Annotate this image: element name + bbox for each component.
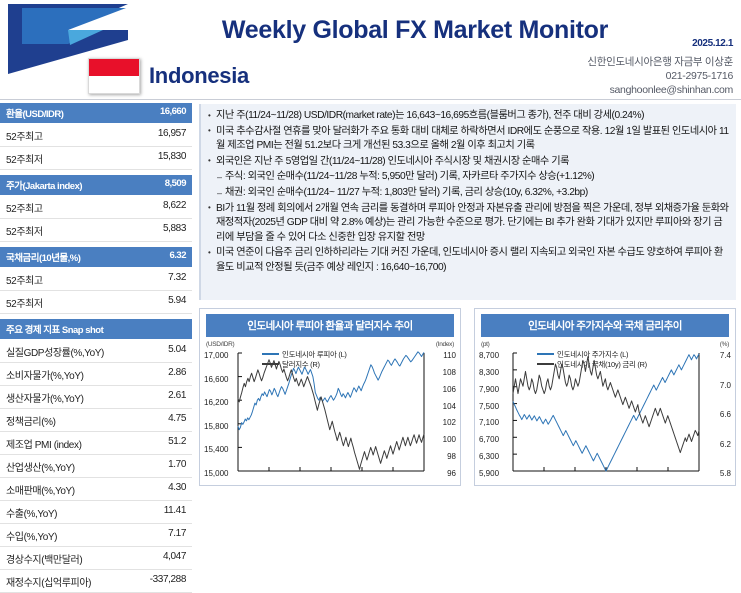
chart-fx-dollar-index: 인도네시아 루피아 환율과 달러지수 추이(USD/IDR)(Index)17,… [199, 308, 461, 486]
table-group-header: 국채금리(10년물,%)6.32 [0, 247, 192, 267]
chart-series-line [513, 354, 699, 471]
commentary-bullet: 외국인은 지난 주 5영업일 간(11/24~11/28) 인도네시아 주식시장… [207, 155, 730, 170]
table-row-label: 제조업 PMI (index) [6, 436, 82, 451]
table-row: 제조업 PMI (index)51.2 [0, 432, 192, 455]
table-row-value: 16,957 [158, 128, 186, 143]
table-row: 정책금리(%)4.75 [0, 409, 192, 432]
table-row-value: 5,883 [163, 223, 186, 238]
table-group-label: 주요 경제 지표 Snap shot [6, 322, 103, 336]
table-row-label: 산업생산(%,YoY) [6, 459, 75, 474]
table-row-value: 4,047 [163, 551, 186, 566]
table-row-value: 7.17 [168, 528, 186, 543]
table-row: 52주최저5.94 [0, 291, 192, 314]
market-indicator-table: 환율(USD/IDR)16,66052주최고16,95752주최저15,830주… [0, 103, 192, 593]
table-group-value: 16,660 [160, 106, 186, 120]
table-row-value: 7.32 [168, 272, 186, 287]
table-row: 소매판매(%,YoY)4.30 [0, 478, 192, 501]
indonesia-flag-icon [88, 58, 140, 94]
table-row: 수입(%,YoY)7.17 [0, 524, 192, 547]
table-row: 52주최저15,830 [0, 147, 192, 170]
table-row-label: 52주최저 [6, 295, 43, 310]
table-group-header: 환율(USD/IDR)16,660 [0, 103, 192, 123]
table-row: 재정수지(십억루피아)-337,288 [0, 570, 192, 593]
chart-plot-area: (USD/IDR)(Index)17,00016,60016,20015,800… [204, 341, 456, 481]
commentary-sub-bullet: 주식: 외국인 순매수(11/24~11/28 누적: 5,950만 달러) 기… [207, 170, 730, 185]
commentary-sub-bullet: 채권: 외국인 순매수(11/24~ 11/27 누적: 1,803만 달러) … [207, 186, 730, 201]
table-row-label: 소비자물가(%,YoY) [6, 367, 84, 382]
commentary-bullet: 지난 주(11/24~11/28) USD/IDR(market rate)는 … [207, 109, 730, 124]
table-row-label: 정책금리(%) [6, 413, 56, 428]
table-row-value: 5.04 [168, 344, 186, 359]
chart-series-line [238, 360, 424, 470]
author-name: 신한인도네시아은행 자금부 이상훈 [587, 55, 733, 69]
chart-svg [204, 341, 454, 481]
table-row-value: 51.2 [168, 436, 186, 451]
table-row-value: 8,622 [163, 200, 186, 215]
table-group-label: 환율(USD/IDR) [6, 106, 63, 120]
chart-equity-bond-yield: 인도네시아 주가지수와 국채 금리추이(pt)(%)8,7008,3007,90… [474, 308, 736, 486]
commentary-bullet: 미국 추수감사절 연휴를 맞아 달러화가 주요 통화 대비 대체로 하락하면서 … [207, 125, 730, 154]
country-label: Indonesia [149, 63, 249, 89]
chart-title: 인도네시아 주가지수와 국채 금리추이 [481, 314, 729, 337]
table-group-label: 국채금리(10년물,%) [6, 250, 80, 264]
author-contact: 신한인도네시아은행 자금부 이상훈 021-2975-1716 sanghoon… [587, 55, 733, 97]
table-row-label: 경상수지(백만달러) [6, 551, 82, 566]
table-row-label: 52주최고 [6, 272, 43, 287]
table-row-value: 4.75 [168, 413, 186, 428]
table-row-value: 1.70 [168, 459, 186, 474]
commentary-bullet: BI가 11월 정례 회의에서 2개월 연속 금리를 동결하며 루피아 안정과 … [207, 202, 730, 246]
table-row: 산업생산(%,YoY)1.70 [0, 455, 192, 478]
table-row: 52주최고8,622 [0, 196, 192, 219]
chart-title: 인도네시아 루피아 환율과 달러지수 추이 [206, 314, 454, 337]
table-row-label: 52주최저 [6, 151, 43, 166]
country-block: Indonesia [88, 58, 249, 94]
table-row-label: 실질GDP성장률(%,YoY) [6, 344, 104, 359]
table-row-label: 재정수지(십억루피아) [6, 574, 91, 589]
table-row-label: 52주최저 [6, 223, 43, 238]
table-row: 52주최고16,957 [0, 124, 192, 147]
table-row: 소비자물가(%,YoY)2.86 [0, 363, 192, 386]
table-group-label: 주가(Jakarta index) [6, 178, 82, 192]
commentary-panel: 지난 주(11/24~11/28) USD/IDR(market rate)는 … [199, 104, 736, 300]
table-row-value: 5.94 [168, 295, 186, 310]
report-date: 2025.12.1 [692, 38, 733, 49]
table-group-header: 주요 경제 지표 Snap shot [0, 319, 192, 339]
table-row-value: 4.30 [168, 482, 186, 497]
commentary-bullet: 미국 연준이 다음주 금리 인하하리라는 기대 커진 가운데, 인도네시아 증시… [207, 246, 730, 275]
page-title: Weekly Global FX Market Monitor [205, 16, 625, 45]
table-row-value: 15,830 [158, 151, 186, 166]
table-row-value: 2.86 [168, 367, 186, 382]
table-row-label: 52주최고 [6, 128, 43, 143]
table-row: 52주최고7.32 [0, 268, 192, 291]
table-row-value: -337,288 [150, 574, 186, 589]
chart-series-line [238, 352, 424, 430]
table-group-header: 주가(Jakarta index)8,509 [0, 175, 192, 195]
chart-plot-area: (pt)(%)8,7008,3007,9007,5007,1006,7006,3… [479, 341, 731, 481]
table-row-label: 52주최고 [6, 200, 43, 215]
author-email: sanghoonlee@shinhan.com [587, 83, 733, 97]
table-group-value: 8,509 [165, 178, 186, 192]
table-row-label: 생산자물가(%,YoY) [6, 390, 84, 405]
page-header: Weekly Global FX Market Monitor 2025.12.… [0, 0, 741, 100]
header-divider [0, 99, 741, 100]
table-row: 경상수지(백만달러)4,047 [0, 547, 192, 570]
table-row: 수출(%,YoY)11.41 [0, 501, 192, 524]
table-row: 실질GDP성장률(%,YoY)5.04 [0, 340, 192, 363]
table-row-label: 수입(%,YoY) [6, 528, 57, 543]
table-group-value: 6.32 [170, 250, 187, 264]
table-row-label: 소매판매(%,YoY) [6, 482, 75, 497]
table-row-value: 11.41 [164, 505, 186, 520]
chart-svg [479, 341, 729, 481]
table-row: 52주최저5,883 [0, 219, 192, 242]
author-phone: 021-2975-1716 [587, 69, 733, 83]
table-row: 생산자물가(%,YoY)2.61 [0, 386, 192, 409]
table-row-value: 2.61 [168, 390, 186, 405]
table-row-label: 수출(%,YoY) [6, 505, 57, 520]
